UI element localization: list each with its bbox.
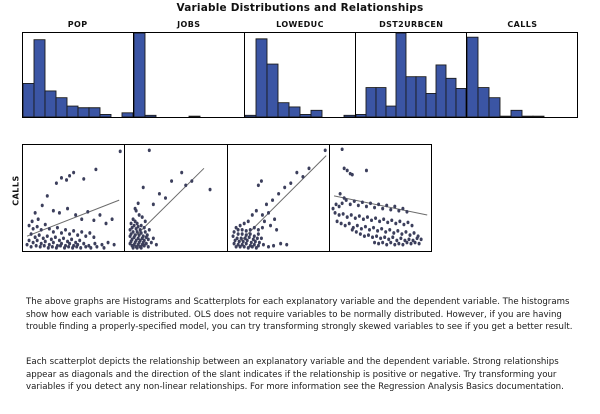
scatter-point xyxy=(372,226,375,230)
scatter-point xyxy=(380,227,383,231)
scatter-point xyxy=(80,230,83,234)
trend-line xyxy=(131,168,204,240)
scatter-point xyxy=(30,245,33,249)
scatter-point xyxy=(232,230,235,234)
scatter-point xyxy=(379,236,382,240)
scatter-point xyxy=(378,220,381,224)
scatter-point xyxy=(345,215,348,219)
scatter-point xyxy=(191,179,194,183)
scatter-point xyxy=(289,181,292,185)
scatter-point xyxy=(136,246,139,250)
scatterplot-strip xyxy=(22,144,432,252)
scatter-point xyxy=(55,181,58,185)
scatter-point xyxy=(63,246,66,250)
scatter-point xyxy=(68,174,71,178)
scatter-point xyxy=(256,228,259,232)
scatter-point xyxy=(140,246,143,250)
scatter-point xyxy=(401,207,404,211)
scatter-point xyxy=(111,217,114,221)
scatter-point xyxy=(409,242,412,246)
scatter-point xyxy=(209,188,212,192)
histogram-bar xyxy=(366,88,376,117)
histogram-bar xyxy=(134,33,145,117)
histogram-label-calls: CALLS xyxy=(467,18,578,32)
scatter-point xyxy=(44,223,47,227)
histogram-bar xyxy=(489,98,500,117)
scatter-point xyxy=(252,226,255,230)
scatter-point xyxy=(28,239,31,243)
scatter-point xyxy=(266,211,269,215)
scatter-point xyxy=(262,220,265,224)
scatter-point xyxy=(51,245,54,249)
scatter-point xyxy=(141,215,144,219)
scatter-point xyxy=(47,246,50,250)
scatter-point xyxy=(376,229,379,233)
scatter-point xyxy=(46,194,49,198)
scatterplot-panel-pop xyxy=(23,145,125,251)
scatter-point xyxy=(256,183,259,187)
scatter-point xyxy=(58,211,61,215)
histogram-bar xyxy=(386,106,396,117)
scatter-point xyxy=(246,220,249,224)
scatter-point xyxy=(107,241,110,245)
scatter-point xyxy=(406,221,409,225)
scatter-point xyxy=(343,224,346,228)
scatter-point xyxy=(370,218,373,222)
scatter-point xyxy=(132,246,135,250)
scatter-point xyxy=(86,210,89,214)
scatter-point xyxy=(238,245,241,249)
scatter-point xyxy=(68,232,71,236)
scatter-point xyxy=(260,226,263,230)
histogram-bar xyxy=(344,115,355,117)
scatter-point xyxy=(95,245,98,249)
histogram-canvas xyxy=(356,33,466,117)
scatter-point xyxy=(249,241,252,245)
scatter-point xyxy=(78,239,81,243)
scatter-point xyxy=(184,183,187,187)
scatter-point xyxy=(413,241,416,245)
scatter-point xyxy=(362,217,365,221)
histogram-bar xyxy=(67,106,78,117)
scatter-point xyxy=(417,242,420,246)
scatter-point xyxy=(266,245,269,249)
scatter-point xyxy=(34,211,37,215)
scatter-point xyxy=(44,240,47,244)
scatter-point xyxy=(254,209,257,213)
scatter-point xyxy=(40,242,43,246)
scatter-point xyxy=(241,240,244,244)
scatter-point xyxy=(74,213,77,217)
scatter-point xyxy=(279,242,282,246)
histogram-bar xyxy=(122,113,133,117)
scatter-point xyxy=(52,230,55,234)
scatter-point xyxy=(62,236,65,240)
scatter-point xyxy=(345,169,348,173)
scatter-point xyxy=(307,167,310,171)
scatter-point xyxy=(383,235,386,239)
scatter-point xyxy=(334,203,337,207)
scatter-point xyxy=(400,232,403,236)
scatter-point xyxy=(50,238,53,242)
scatter-point xyxy=(419,238,422,242)
scatter-point xyxy=(349,213,352,217)
histogram-bar xyxy=(416,77,426,117)
scatter-point xyxy=(170,179,173,183)
scatter-point xyxy=(301,175,304,179)
scatter-point xyxy=(92,235,95,239)
scatter-point xyxy=(34,235,37,239)
scatter-point xyxy=(82,177,85,181)
scatter-point xyxy=(237,240,240,244)
scatter-point xyxy=(119,150,122,154)
histogram-bar xyxy=(78,108,89,117)
scatterplot-panel-jobs xyxy=(125,145,227,251)
scatter-point xyxy=(373,241,376,245)
scatter-point xyxy=(338,192,341,196)
scatter-point xyxy=(242,222,245,226)
scatter-point xyxy=(246,246,249,250)
scatter-point xyxy=(26,243,29,247)
scatter-point xyxy=(354,216,357,220)
scatter-point xyxy=(36,239,39,243)
scatter-point xyxy=(248,228,251,232)
scatter-point xyxy=(138,213,141,217)
scatter-point xyxy=(32,241,35,245)
scatter-point xyxy=(240,232,243,236)
histogram-bar xyxy=(289,107,300,117)
scatter-point xyxy=(60,176,63,180)
scatter-point xyxy=(404,230,407,234)
scatter-point xyxy=(148,228,151,232)
scatter-point xyxy=(155,243,158,247)
scatter-point xyxy=(347,222,350,226)
scatter-point xyxy=(356,224,359,228)
histogram-bar xyxy=(426,93,436,117)
note-paragraph-1: The above graphs are Histograms and Scat… xyxy=(26,296,578,334)
scatter-point xyxy=(256,232,259,236)
scatter-point xyxy=(28,224,31,228)
scatter-point xyxy=(88,231,91,235)
scatter-point xyxy=(277,192,280,196)
scatter-point xyxy=(269,224,272,228)
histogram-bar xyxy=(500,116,511,117)
scatter-point xyxy=(410,224,413,228)
histogram-bar xyxy=(267,64,278,117)
histogram-bar xyxy=(100,114,111,117)
scatter-point xyxy=(407,238,410,242)
scatterplot-panel-row xyxy=(22,144,432,252)
scatter-point xyxy=(48,227,51,231)
scatter-point xyxy=(375,234,378,238)
scatter-point xyxy=(140,224,143,228)
scatter-point xyxy=(245,239,248,243)
scatter-point xyxy=(89,246,92,250)
scatter-point xyxy=(250,245,253,249)
scatter-point xyxy=(363,234,366,238)
scatter-point xyxy=(247,235,250,239)
scatter-point xyxy=(98,213,101,217)
scatter-point xyxy=(84,245,87,249)
scatter-point xyxy=(259,236,262,240)
scatter-point xyxy=(139,228,142,232)
scatter-point xyxy=(273,217,276,221)
scatter-point xyxy=(239,236,242,240)
scatter-point xyxy=(32,227,35,231)
histogram-canvas xyxy=(467,33,577,117)
histogram-bar xyxy=(145,115,156,117)
scatter-point xyxy=(259,179,262,183)
scatter-point xyxy=(54,235,57,239)
scatter-point xyxy=(39,245,42,249)
histogram-bar xyxy=(45,91,56,117)
histogram-canvas xyxy=(134,33,244,117)
scatter-point xyxy=(371,235,374,239)
scatter-point xyxy=(244,233,247,237)
scatter-point xyxy=(35,244,38,248)
scatter-point xyxy=(360,227,363,231)
scatter-point xyxy=(368,228,371,232)
scatter-point xyxy=(394,222,397,226)
histogram-bar xyxy=(311,110,322,117)
scatter-point xyxy=(397,209,400,213)
histogram-panel-loweduc xyxy=(245,33,356,117)
scatter-point xyxy=(373,206,376,210)
histogram-label-loweduc: LOWEDUC xyxy=(244,18,355,32)
histogram-panel-pop xyxy=(23,33,134,117)
scatter-point xyxy=(381,207,384,211)
histogram-panel-row xyxy=(22,32,578,118)
scatter-point xyxy=(144,220,147,224)
scatter-point xyxy=(38,233,41,237)
scatter-point xyxy=(130,222,133,226)
scatter-point xyxy=(405,241,408,245)
scatter-point xyxy=(385,204,388,208)
scatter-point xyxy=(232,242,235,246)
scatter-point xyxy=(344,198,347,202)
scatter-point xyxy=(236,228,239,232)
scatter-point xyxy=(295,171,298,175)
scatter-point xyxy=(67,245,70,249)
scatter-point xyxy=(144,230,147,234)
scatter-point xyxy=(30,232,33,236)
scatter-point xyxy=(84,234,87,238)
scatter-point xyxy=(391,235,394,239)
histogram-bar xyxy=(522,116,533,117)
histogram-bar xyxy=(446,78,456,117)
scatter-point xyxy=(244,229,247,233)
scatter-point xyxy=(272,244,275,248)
scatter-point xyxy=(41,204,44,208)
scatter-point xyxy=(337,213,340,217)
scatter-point xyxy=(82,242,85,246)
scatter-point xyxy=(353,199,356,203)
histogram-bar xyxy=(56,98,67,117)
histogram-bar xyxy=(467,37,478,117)
scatter-point xyxy=(164,196,167,200)
scatter-point xyxy=(261,243,264,247)
scatter-point xyxy=(68,242,71,246)
scatter-point xyxy=(142,186,145,190)
scatter-point xyxy=(396,229,399,233)
scatter-point xyxy=(105,222,108,226)
page-title: Variable Distributions and Relationships xyxy=(0,2,600,14)
scatter-point xyxy=(397,242,400,246)
scatter-point xyxy=(395,239,398,243)
scatter-point xyxy=(135,227,138,231)
scatter-point xyxy=(386,221,389,225)
scatter-point xyxy=(339,222,342,226)
scatter-point xyxy=(335,220,338,224)
scatter-point xyxy=(367,233,370,237)
scatter-point xyxy=(52,209,55,213)
scatter-point xyxy=(66,207,69,211)
scatter-point xyxy=(255,236,258,240)
scatter-point xyxy=(242,245,245,249)
histogram-bar xyxy=(23,83,34,117)
scatter-point xyxy=(147,245,150,249)
histogram-label-row: POPJOBSLOWEDUCDST2URBCENCALLS xyxy=(22,18,578,32)
histogram-bar xyxy=(478,88,489,117)
scatter-point xyxy=(275,228,278,232)
scatter-point xyxy=(340,147,343,151)
scatter-point xyxy=(260,213,263,217)
histogram-bar xyxy=(34,40,45,117)
scatter-point xyxy=(385,243,388,247)
scatter-point xyxy=(254,246,257,250)
scatter-point xyxy=(401,243,404,247)
scatter-point xyxy=(405,210,408,214)
histogram-label-pop: POP xyxy=(22,18,133,32)
scatterplot-panel-loweduc xyxy=(228,145,330,251)
scatter-point xyxy=(381,241,384,245)
scatter-point xyxy=(408,233,411,237)
scatter-y-axis-label: CALLS xyxy=(12,171,21,211)
scatter-point xyxy=(364,225,367,229)
scatter-point xyxy=(248,232,251,236)
histogram-label-dst2urbcen: DST2URBCEN xyxy=(356,18,467,32)
scatter-point xyxy=(147,238,150,242)
scatter-point xyxy=(92,218,95,222)
scatter-point xyxy=(143,226,146,230)
histogram-panel-dst2urbcen xyxy=(356,33,467,117)
scatter-point xyxy=(43,244,46,248)
scatter-point xyxy=(134,207,137,211)
scatter-point xyxy=(64,228,67,232)
scatter-point xyxy=(369,201,372,205)
scatter-point xyxy=(389,241,392,245)
scatter-point xyxy=(152,203,155,207)
scatter-point xyxy=(56,226,59,230)
scatter-point xyxy=(233,239,236,243)
scatter-point xyxy=(340,201,343,205)
scatter-point xyxy=(150,241,153,245)
scatter-point xyxy=(331,207,334,211)
histogram-bar xyxy=(396,33,406,117)
scatter-point xyxy=(392,231,395,235)
scatter-point xyxy=(40,228,43,232)
histogram-bar xyxy=(511,110,522,117)
scatter-point xyxy=(136,222,139,226)
histogram-bar xyxy=(256,39,267,117)
scatterplot-canvas xyxy=(330,145,431,251)
scatter-point xyxy=(240,228,243,232)
scatter-point xyxy=(70,238,73,242)
scatter-point xyxy=(355,230,358,234)
histogram-canvas xyxy=(245,33,355,117)
histogram-panel-jobs xyxy=(134,33,245,117)
scatter-point xyxy=(129,228,132,232)
scatter-point xyxy=(264,203,267,207)
scatter-point xyxy=(46,234,49,238)
histogram-bar xyxy=(245,115,256,117)
histogram-bar xyxy=(406,77,416,117)
scatter-point xyxy=(143,244,146,248)
histogram-strip: POPJOBSLOWEDUCDST2URBCENCALLS xyxy=(22,18,578,118)
scatter-point xyxy=(93,242,96,246)
scatter-point xyxy=(342,167,345,171)
histogram-bar xyxy=(533,116,544,117)
scatter-point xyxy=(389,208,392,212)
scatter-point xyxy=(271,198,274,202)
scatter-point xyxy=(283,186,286,190)
scatter-point xyxy=(152,236,155,240)
scatter-point xyxy=(231,234,234,238)
scatter-point xyxy=(365,169,368,173)
histogram-panel-calls xyxy=(467,33,577,117)
scatter-point xyxy=(180,171,183,175)
scatter-point xyxy=(333,211,336,215)
scatter-point xyxy=(244,242,247,246)
scatter-point xyxy=(348,203,351,207)
scatter-point xyxy=(48,243,51,247)
scatter-point xyxy=(148,148,151,152)
histogram-bar xyxy=(356,114,366,117)
note-paragraph-2: Each scatterplot depicts the relationshi… xyxy=(26,356,578,394)
scatter-point xyxy=(236,232,239,236)
scatter-point xyxy=(72,171,75,175)
scatter-point xyxy=(60,231,63,235)
histogram-bar xyxy=(189,116,200,117)
scatter-point xyxy=(388,228,391,232)
scatter-point xyxy=(55,246,58,250)
scatterplot-panel-dst2urbcen xyxy=(330,145,431,251)
histogram-label-jobs: JOBS xyxy=(133,18,244,32)
scatterplot-canvas xyxy=(23,145,124,251)
scatter-point xyxy=(337,205,340,209)
scatter-point xyxy=(250,213,253,217)
scatter-point xyxy=(58,239,61,243)
scatter-point xyxy=(359,232,362,236)
scatter-point xyxy=(402,223,405,227)
scatter-point xyxy=(366,215,369,219)
scatter-point xyxy=(113,243,116,247)
scatter-point xyxy=(377,242,380,246)
scatter-point xyxy=(382,217,385,221)
histogram-bar xyxy=(436,65,446,117)
scatter-point xyxy=(129,234,132,238)
scatter-point xyxy=(238,224,241,228)
scatter-point xyxy=(351,228,354,232)
scatter-point xyxy=(357,204,360,208)
scatter-point xyxy=(285,243,288,247)
scatter-point xyxy=(59,244,62,248)
scatter-point xyxy=(415,236,418,240)
scatter-point xyxy=(102,246,105,250)
scatter-point xyxy=(79,246,82,250)
scatter-point xyxy=(136,230,139,234)
scatter-point xyxy=(351,173,354,177)
